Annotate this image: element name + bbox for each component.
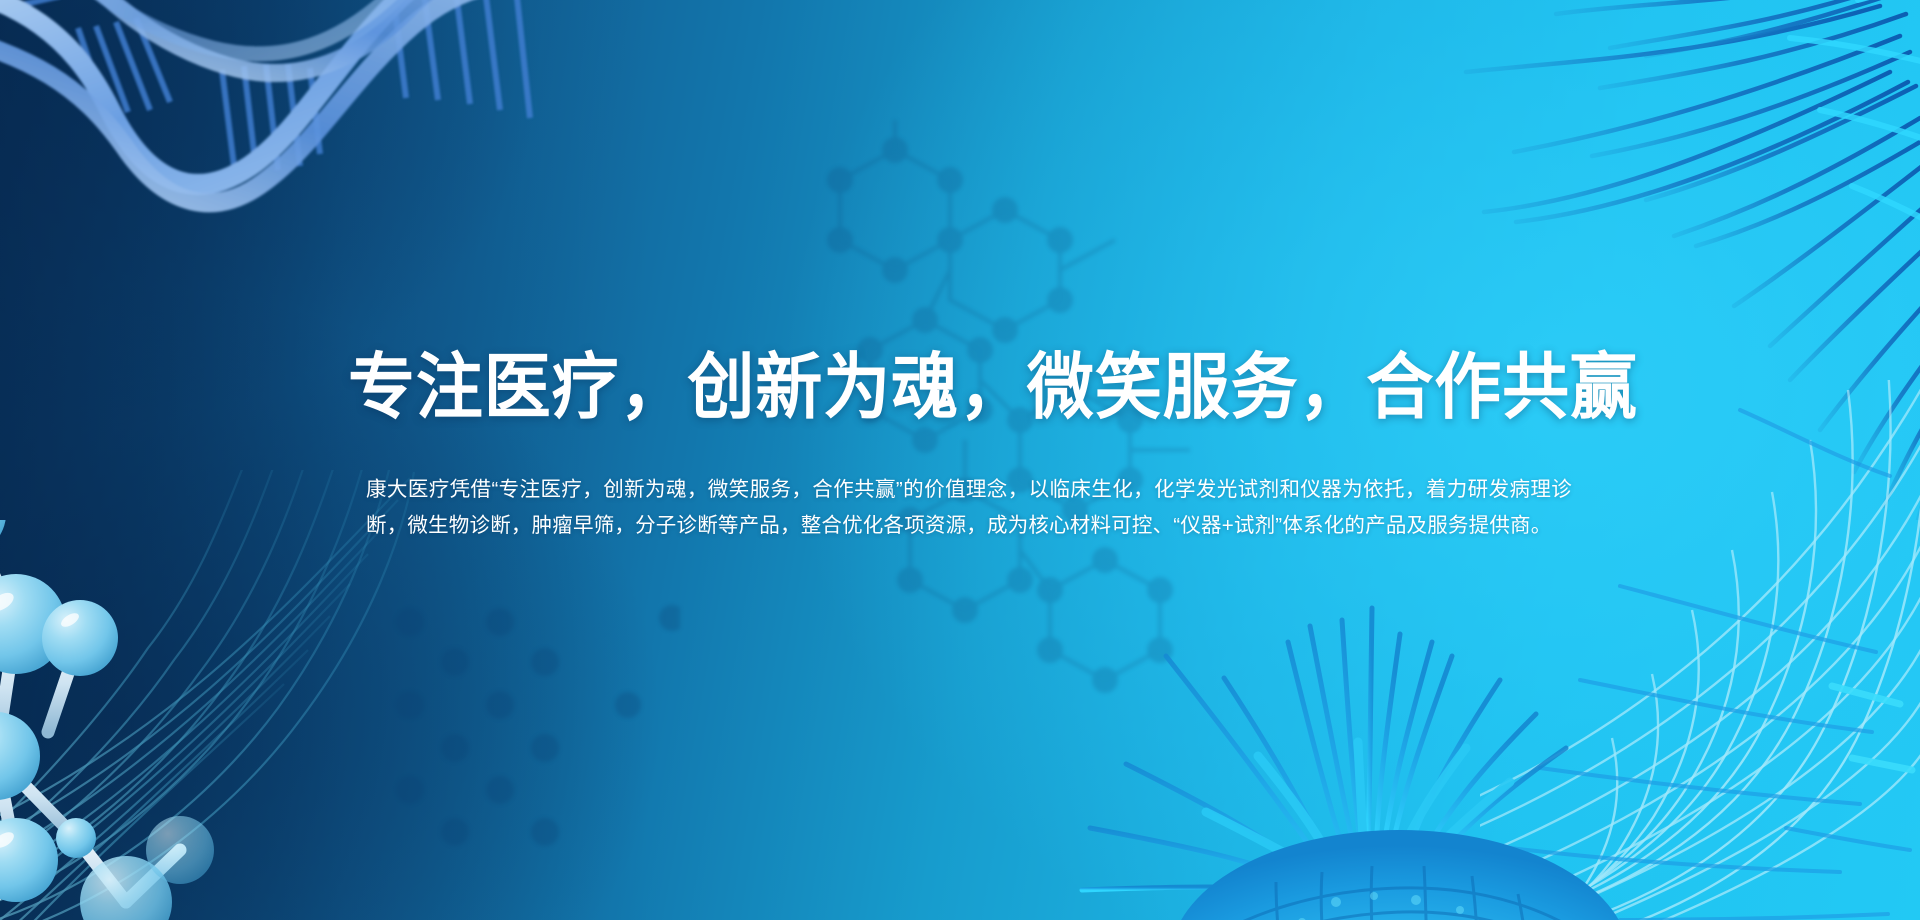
virus-cell-graphic: [1070, 560, 1630, 920]
hex-dot-lattice-graphic: [380, 600, 680, 900]
banner-description: 康大医疗凭借“专注医疗，创新为魂，微笑服务，合作共赢”的价值理念，以临床生化，化…: [366, 472, 1572, 544]
dna-helix-graphic: [0, 0, 600, 270]
hero-banner: 专注医疗，创新为魂，微笑服务，合作共赢 康大医疗凭借“专注医疗，创新为魂，微笑服…: [0, 0, 1920, 920]
molecule-model-graphic: [0, 520, 290, 920]
banner-text-block: 专注医疗，创新为魂，微笑服务，合作共赢 康大医疗凭借“专注医疗，创新为魂，微笑服…: [348, 352, 1588, 544]
page-title: 专注医疗，创新为魂，微笑服务，合作共赢: [348, 352, 1501, 424]
